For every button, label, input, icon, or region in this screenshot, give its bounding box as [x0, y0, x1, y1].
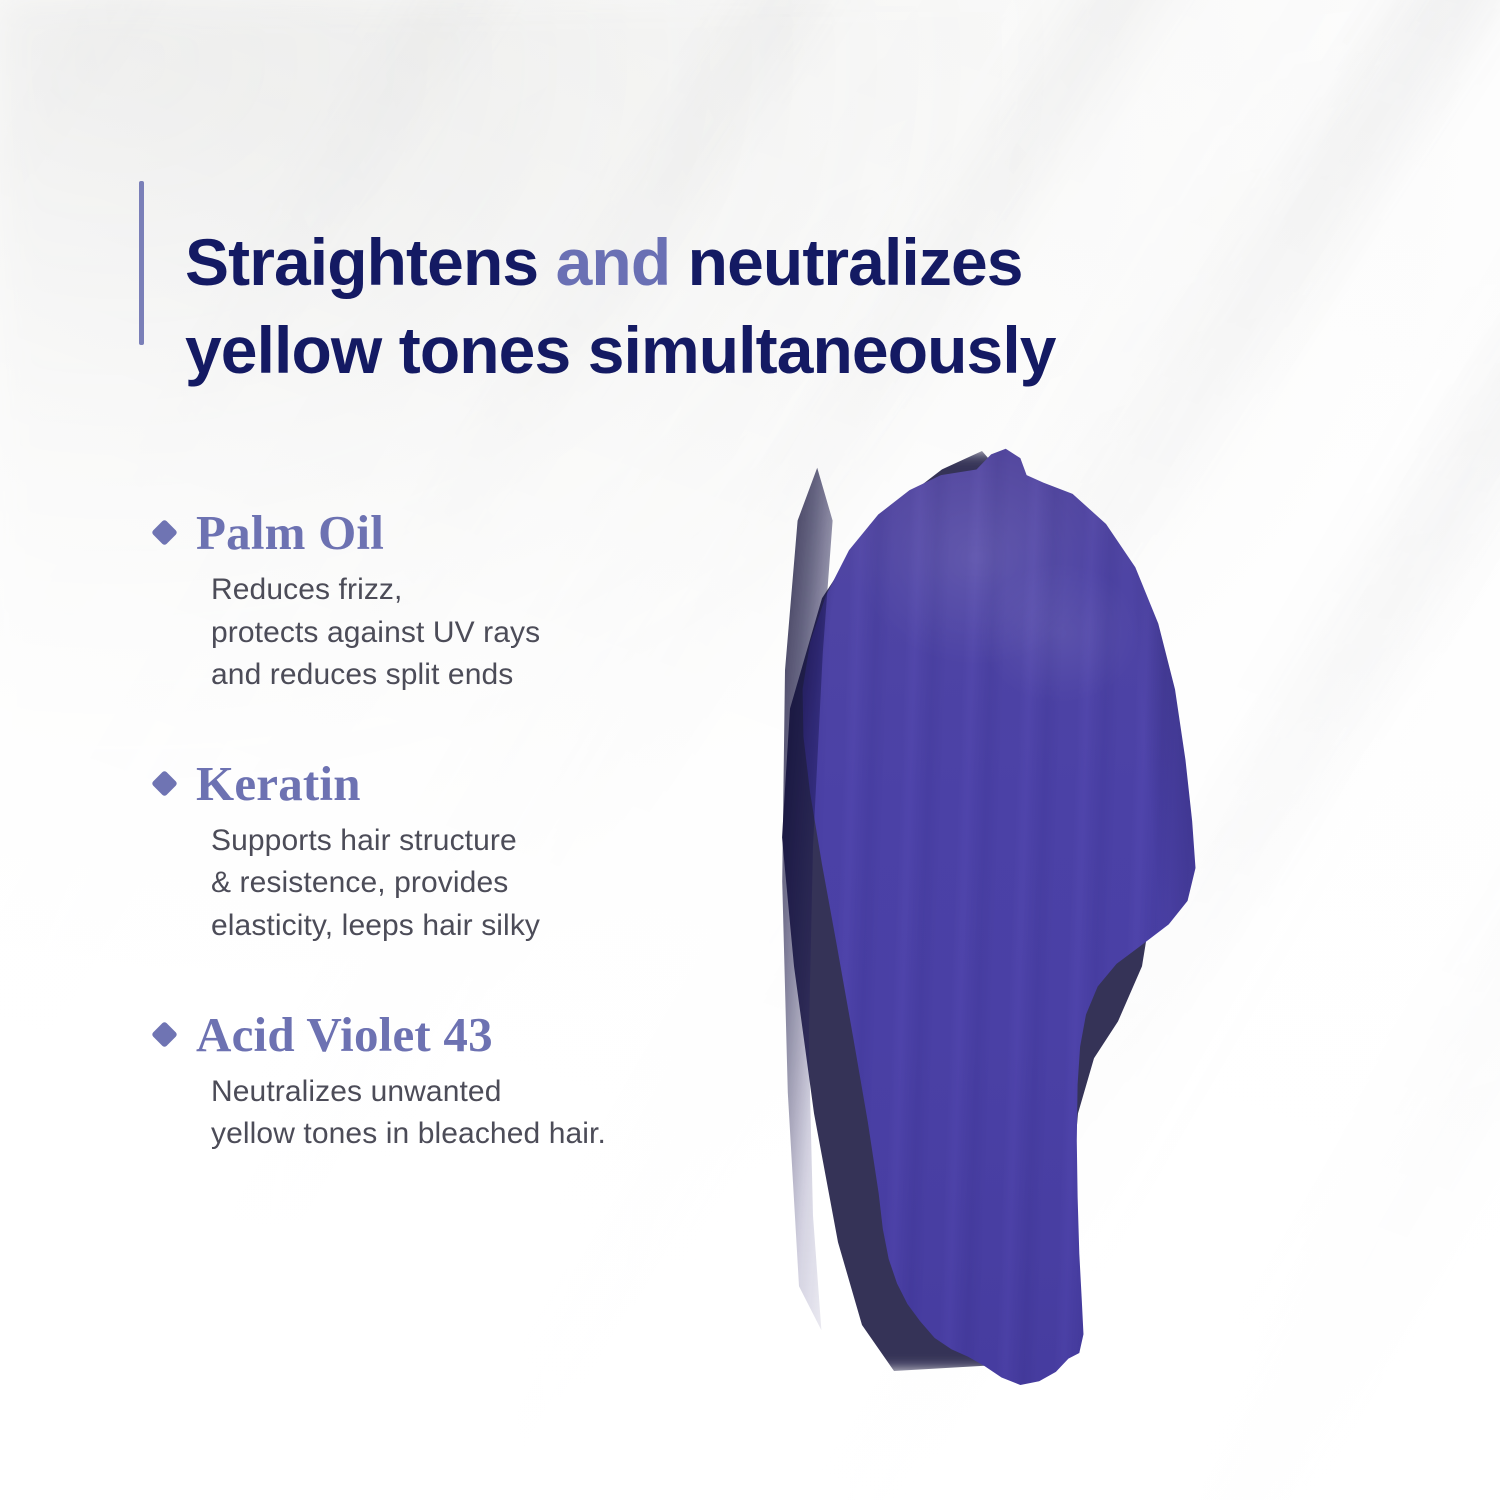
- ingredient-description: Supports hair structure & resistence, pr…: [211, 820, 715, 948]
- ingredient-description: Reduces frizz, protects against UV rays …: [211, 569, 715, 697]
- ingredient-item-palm-oil: Palm Oil Reduces frizz, protects against…: [155, 508, 715, 697]
- ingredient-title: Palm Oil: [196, 508, 384, 557]
- product-swatch-image: [740, 415, 1260, 1405]
- ingredient-list: Palm Oil Reduces frizz, protects against…: [155, 508, 715, 1156]
- headline-emphasis-and: and: [556, 225, 671, 299]
- headline-line-2: yellow tones simultaneously: [185, 313, 1056, 387]
- ingredient-heading: Keratin: [155, 759, 715, 808]
- headline-part-1: Straightens: [185, 225, 556, 299]
- infographic-canvas: Straightens and neutralizesyellow tones …: [0, 0, 1500, 1500]
- ingredient-item-keratin: Keratin Supports hair structure & resist…: [155, 759, 715, 948]
- ingredient-item-acid-violet-43: Acid Violet 43 Neutralizes unwanted yell…: [155, 1010, 715, 1156]
- ingredient-title: Keratin: [196, 759, 361, 808]
- ingredient-description: Neutralizes unwanted yellow tones in ble…: [211, 1071, 715, 1156]
- diamond-bullet-icon: [151, 1021, 178, 1048]
- diamond-bullet-icon: [151, 519, 178, 546]
- ingredient-heading: Acid Violet 43: [155, 1010, 715, 1059]
- headline-part-3: neutralizes: [670, 225, 1022, 299]
- ingredient-heading: Palm Oil: [155, 508, 715, 557]
- page-title: Straightens and neutralizesyellow tones …: [185, 219, 1185, 395]
- ingredient-title: Acid Violet 43: [196, 1010, 493, 1059]
- diamond-bullet-icon: [151, 770, 178, 797]
- headline-accent-bar: [139, 181, 144, 345]
